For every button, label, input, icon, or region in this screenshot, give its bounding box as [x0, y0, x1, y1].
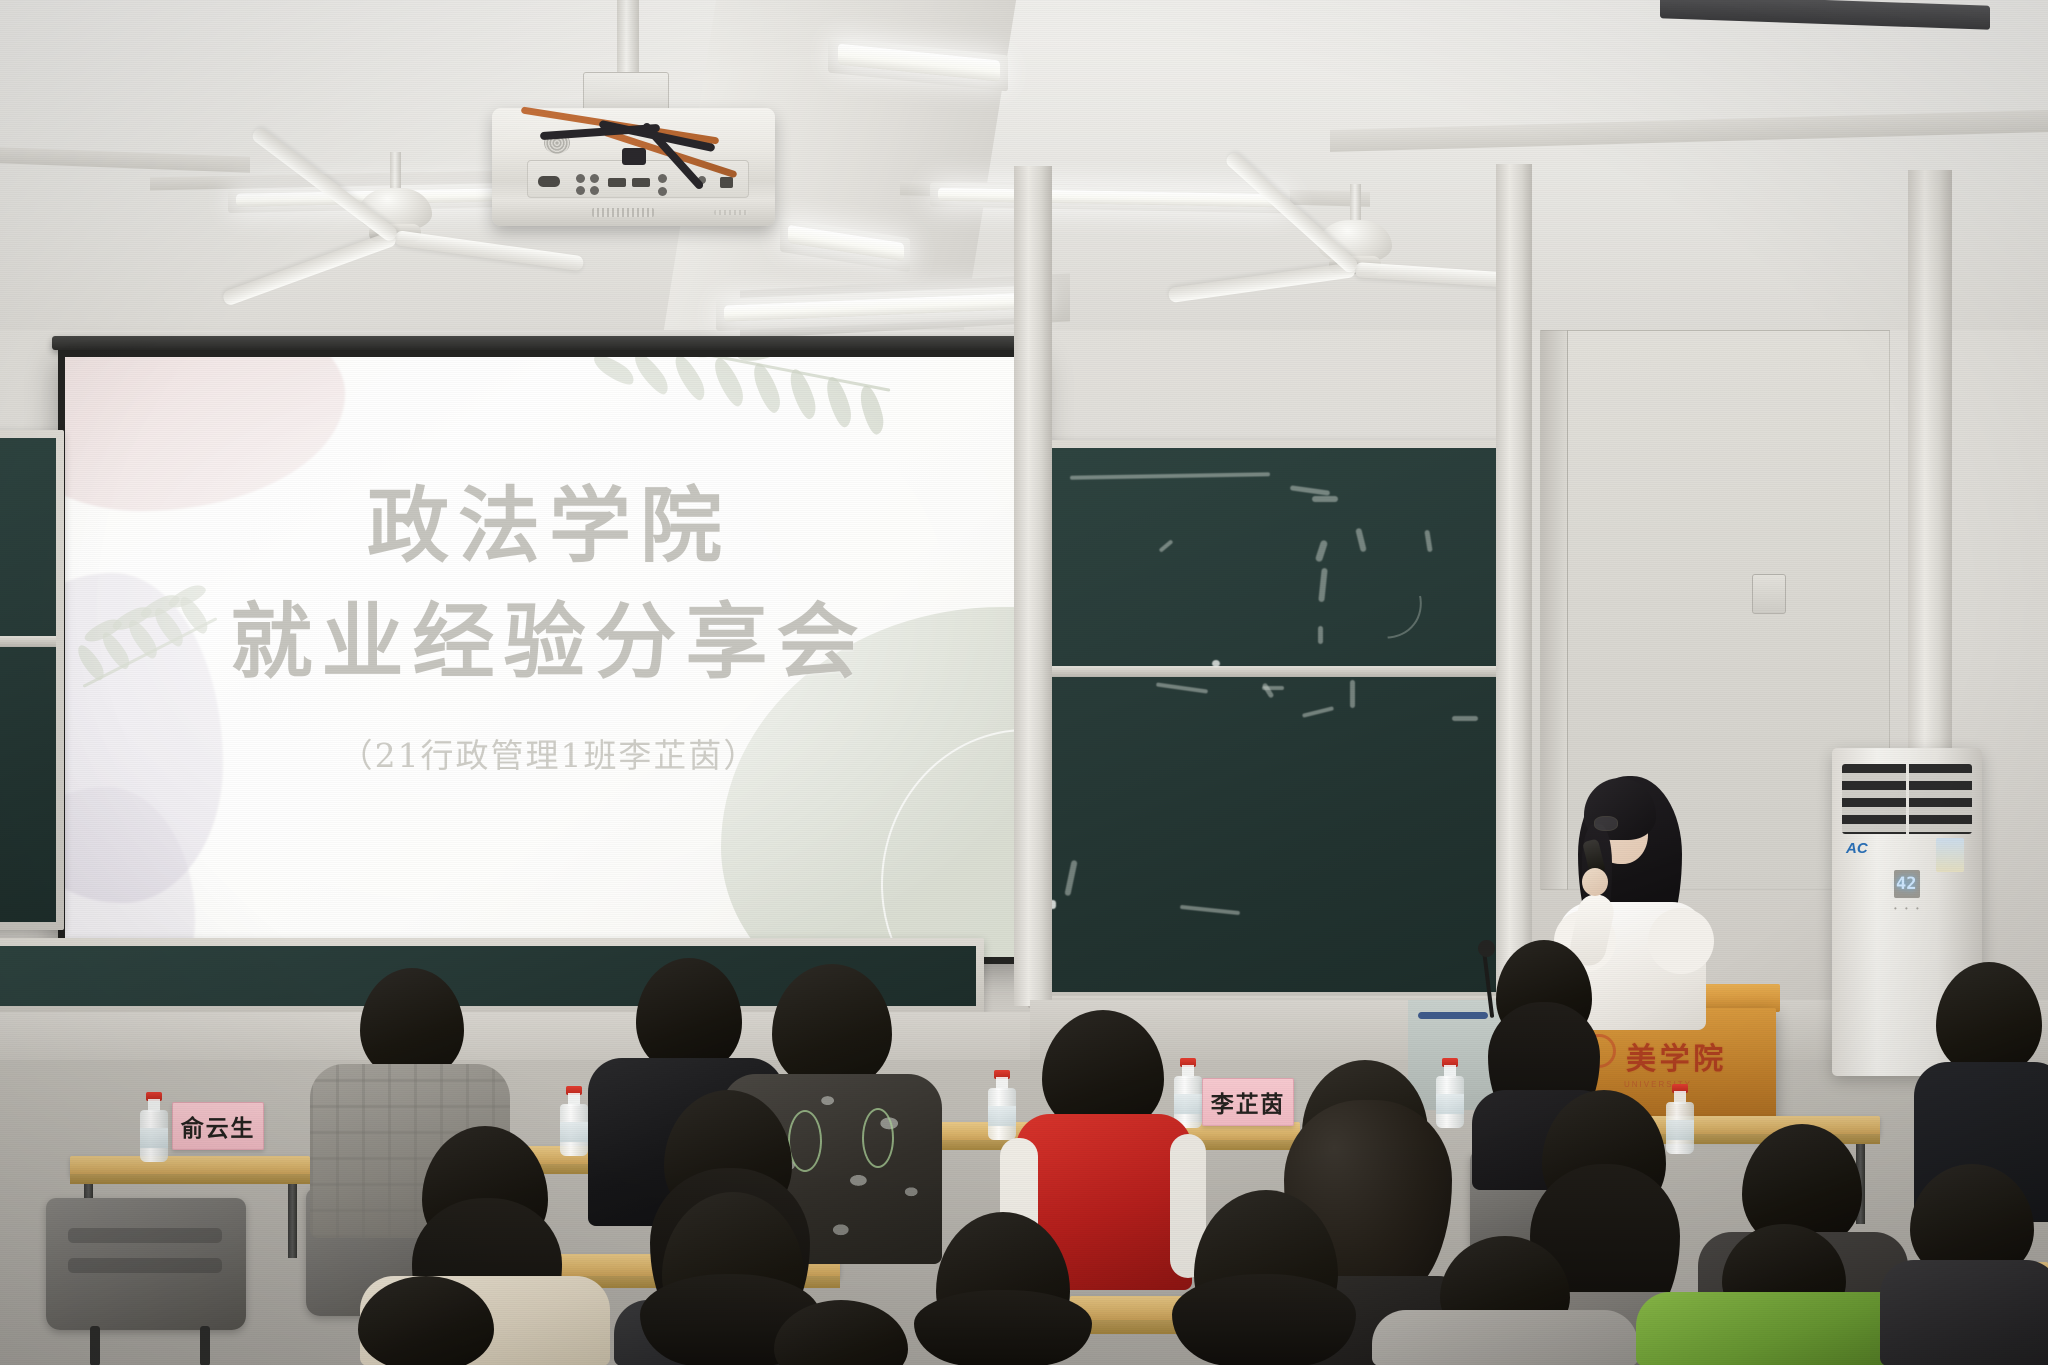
wall-pillar-center [1014, 166, 1052, 1006]
chair-slot [68, 1228, 222, 1243]
chalk-mark [1302, 706, 1334, 718]
head [772, 964, 892, 1090]
chalk-mark [1262, 686, 1284, 690]
long-hair [1172, 1274, 1356, 1365]
vga-port [538, 176, 560, 187]
shirt-pattern-oval [862, 1108, 894, 1168]
hdmi-port [608, 178, 626, 187]
chalk-mark [1350, 680, 1355, 708]
chalk-mark [1315, 539, 1328, 562]
blackboard-divider-rail [0, 636, 56, 647]
leaf [630, 357, 673, 398]
ceiling-fan-left[interactable] [355, 186, 435, 256]
head [1936, 962, 2042, 1076]
screen-roller-case [52, 336, 1040, 350]
chalk-mark [1318, 626, 1323, 644]
wall-pillar-right [1496, 164, 1532, 1004]
chalk-mark [1424, 530, 1432, 553]
audience-member-grey-hoodie [1372, 1236, 1638, 1365]
chalk-mark [1070, 472, 1270, 479]
leaf [671, 357, 709, 404]
ac-louver-split [1906, 764, 1909, 834]
chalk-mark [1290, 485, 1330, 496]
empty-chair-1[interactable] [46, 1198, 246, 1330]
chair-leg [90, 1326, 100, 1365]
leaf [590, 357, 638, 389]
projection-screen[interactable]: 政法学院 就业经验分享会 （21行政管理1班李芷茵） [58, 350, 1040, 964]
audio-port [658, 174, 667, 183]
audio-port [658, 187, 667, 196]
desk-row1-left [70, 1156, 310, 1176]
chalk-mark [1312, 496, 1338, 502]
name-card-label: 俞云生 [181, 1109, 256, 1143]
ac-indicator-lights: • • • [1894, 904, 1922, 913]
classroom-photo: 政法学院 就业经验分享会 （21行政管理1班李芷茵） [0, 0, 2048, 1365]
hoodie [1372, 1310, 1638, 1365]
desk-edge [70, 1174, 310, 1184]
presenter-glasses [1594, 816, 1618, 831]
slide-subtitle: （21行政管理1班李芷茵） [65, 729, 1033, 777]
leaf [857, 384, 887, 437]
head [774, 1300, 908, 1365]
chalk-mark [1262, 682, 1275, 698]
blackboard-left [0, 430, 64, 930]
chair-leg [200, 1326, 210, 1365]
presenter-shoulder-right [1648, 908, 1714, 974]
rca-port [590, 174, 599, 183]
chalk-dust [1212, 660, 1220, 667]
lan-port [720, 177, 733, 188]
chalk-mark [1452, 716, 1478, 721]
hdmi-port [632, 178, 650, 187]
projector-mount-pipe [617, 0, 639, 76]
leaf-sprig-top-right [581, 357, 911, 465]
chair-slot [68, 1258, 222, 1273]
ac-brand-logo: AC [1846, 840, 1868, 857]
blackboard-right [1032, 440, 1522, 1000]
fan-rod [1350, 184, 1361, 224]
slide-title-line1: 政法学院 [65, 479, 1033, 576]
ceiling-fan-right[interactable] [1315, 218, 1395, 288]
chalk-mark [1318, 568, 1328, 602]
chalk-arc [1313, 533, 1439, 656]
cable-clamp [622, 148, 646, 165]
presenter-hand [1582, 868, 1608, 896]
blackboard-surface [0, 438, 56, 922]
leaf [710, 357, 748, 409]
chalk-mark [1064, 860, 1077, 896]
name-card-1: 俞云生 [172, 1102, 264, 1150]
ac-energy-badge [1936, 838, 1964, 872]
audience-member-foreground-right [1132, 1190, 1390, 1365]
blackboard-divider-rail [1040, 666, 1514, 677]
projector-lens-housing [714, 210, 748, 215]
head [358, 1276, 494, 1365]
wall-speaker [1752, 574, 1786, 614]
rca-port [576, 186, 585, 195]
chalk-mark [1355, 528, 1367, 553]
ac-temperature-value: 42 [1896, 874, 1916, 894]
water-bottle[interactable] [140, 1092, 168, 1162]
rca-port [590, 186, 599, 195]
projector-vent [592, 208, 654, 217]
chalk-mark [1180, 905, 1240, 915]
chalk-mark [1159, 539, 1174, 552]
audience-member-bottom-left [302, 1276, 550, 1365]
blackboard-surface [1040, 448, 1514, 992]
desk-leg [288, 1184, 297, 1258]
podium-institution-text: 美学院 [1626, 1034, 1727, 1078]
slide-title-line2: 就业经验分享会 [65, 595, 1033, 692]
chalk-mark [1156, 682, 1208, 693]
fan-rod [390, 152, 401, 192]
audience-member-bottom-center [726, 1300, 956, 1365]
bottle-label [140, 1128, 168, 1148]
torso [1880, 1260, 2048, 1365]
audience-member-bottom-right [1880, 1164, 2048, 1365]
rca-port [576, 174, 585, 183]
